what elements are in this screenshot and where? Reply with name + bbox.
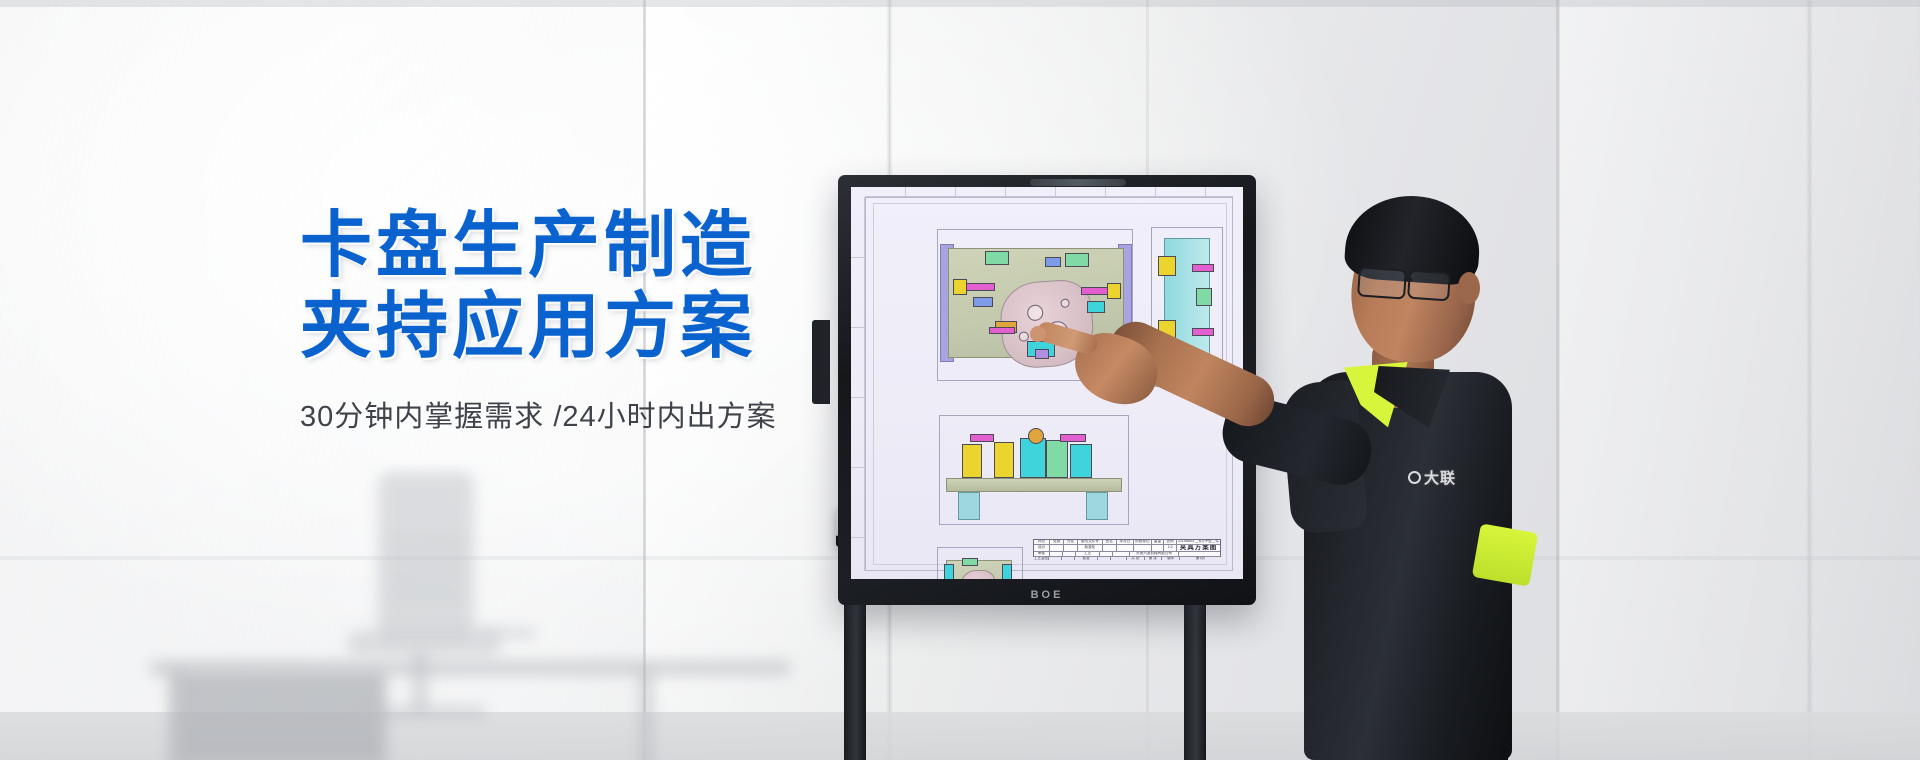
front-arm-left — [970, 434, 994, 442]
tb-cell — [1062, 557, 1075, 561]
clamp-block-right — [1087, 301, 1105, 313]
tb-cell: 共 张 — [1127, 557, 1144, 561]
office-desk-leg-right — [640, 670, 653, 760]
workpiece-bore-1 — [1027, 304, 1044, 321]
office-chair-base — [360, 706, 486, 718]
tb-cell — [1050, 545, 1064, 552]
presenter: 大联 — [1186, 150, 1616, 760]
tb-cell — [1113, 552, 1130, 556]
tb-cell: 重量 — [1152, 540, 1165, 544]
tb-cell — [1049, 557, 1062, 561]
front-block-3 — [1046, 440, 1068, 478]
office-desk-top — [150, 660, 790, 676]
tb-cell: 审核 — [1034, 552, 1050, 556]
office-chair-stem — [412, 652, 428, 714]
tb-cell — [1152, 545, 1165, 552]
tb-cell: 标记 — [1034, 540, 1050, 544]
drawing-ruler-left — [851, 197, 865, 571]
tb-cell — [1103, 545, 1117, 552]
locator-top — [1045, 257, 1061, 267]
detail-clamp-top — [962, 558, 978, 566]
clamp-bottom-arm — [989, 327, 1015, 334]
tb-cell: 工艺 — [1076, 552, 1100, 556]
front-cylinder-1 — [962, 444, 982, 478]
presenter-sleeve-stripe — [1472, 523, 1538, 586]
tb-cell — [1050, 552, 1063, 556]
company-ring-icon — [1408, 471, 1421, 484]
tb-cell — [1111, 557, 1127, 561]
presenter-fingertip — [1030, 326, 1046, 342]
clamp-top-left — [985, 251, 1009, 265]
presenter-chest-logo: 大联 — [1408, 466, 1466, 488]
office-chair-back-texture — [388, 540, 464, 606]
headline-line-1: 卡盘生产制造 — [300, 206, 756, 286]
banner-stage: 卡盘生产制造 夹持应用方案 30分钟内掌握需求 /24小时内出方案 — [0, 0, 1920, 760]
clamp-arm-left — [965, 283, 995, 291]
tb-cell: 年月日 — [1117, 540, 1135, 544]
wall-mullion-5 — [1806, 0, 1813, 760]
cad-view-detail — [937, 547, 1023, 579]
ceiling-beam — [0, 0, 1920, 7]
tb-cell: 签名 — [1103, 540, 1117, 544]
tb-cell: 设计 — [1034, 545, 1050, 552]
tb-cell — [1100, 552, 1113, 556]
front-block-4 — [1070, 444, 1092, 478]
camera-bar-icon — [1030, 179, 1126, 186]
glasses-bridge-icon — [1404, 278, 1412, 281]
side-block-1 — [1158, 256, 1176, 276]
company-logo-text: 大联 — [1424, 467, 1456, 488]
office-desk-leg-left — [168, 670, 183, 760]
clamp-block-left — [973, 297, 993, 307]
tb-cell: 第 张 — [1145, 557, 1162, 561]
tb-cell-scale: 1:2 — [1164, 545, 1177, 552]
tb-cell: 批准 — [1075, 557, 1098, 561]
tb-cell: 处数 — [1050, 540, 1064, 544]
tb-cell: 阶段标记 — [1134, 540, 1152, 544]
drawing-ruler-top — [865, 187, 1233, 197]
tb-cell: 分区 — [1064, 540, 1078, 544]
detail-clamp-left — [944, 564, 954, 579]
front-block-center — [1020, 438, 1046, 478]
tb-cell: 更改文件号 — [1078, 540, 1103, 544]
tb-cell — [1098, 557, 1111, 561]
tb-cell: 工艺会签 — [1034, 557, 1049, 561]
front-cylinder-2 — [994, 442, 1014, 478]
workpiece-bore-4 — [1060, 298, 1070, 308]
display-side-module — [812, 320, 830, 404]
cad-view-front — [939, 415, 1129, 525]
tb-cell-company: 东莞六波机械有限公司 — [1130, 552, 1179, 556]
presenter-ear — [1458, 272, 1480, 304]
tb-cell: 版本 — [1162, 557, 1180, 561]
front-rotary-hub — [1028, 428, 1044, 444]
clamp-pin-center — [1035, 349, 1049, 359]
glasses-lens-right-icon — [1407, 270, 1451, 302]
clamp-cylinder-left — [953, 279, 967, 295]
clamp-cylinder-right — [1107, 283, 1121, 299]
glasses-lens-left-icon — [1357, 266, 1407, 299]
tb-cell — [1117, 545, 1135, 552]
tb-cell: 比例 — [1164, 540, 1177, 544]
front-base-rail — [946, 478, 1122, 492]
front-leg-left — [958, 492, 980, 520]
tb-cell — [1064, 545, 1078, 552]
detail-clamp-right — [1002, 564, 1012, 579]
tb-cell — [1134, 545, 1152, 552]
tb-cell — [1063, 552, 1076, 556]
office-desk-skirt — [176, 672, 386, 760]
tb-cell: 标准化 — [1078, 545, 1103, 552]
clamp-top-right — [1065, 253, 1089, 267]
front-leg-right — [1086, 492, 1108, 520]
front-arm-right — [1060, 434, 1086, 442]
